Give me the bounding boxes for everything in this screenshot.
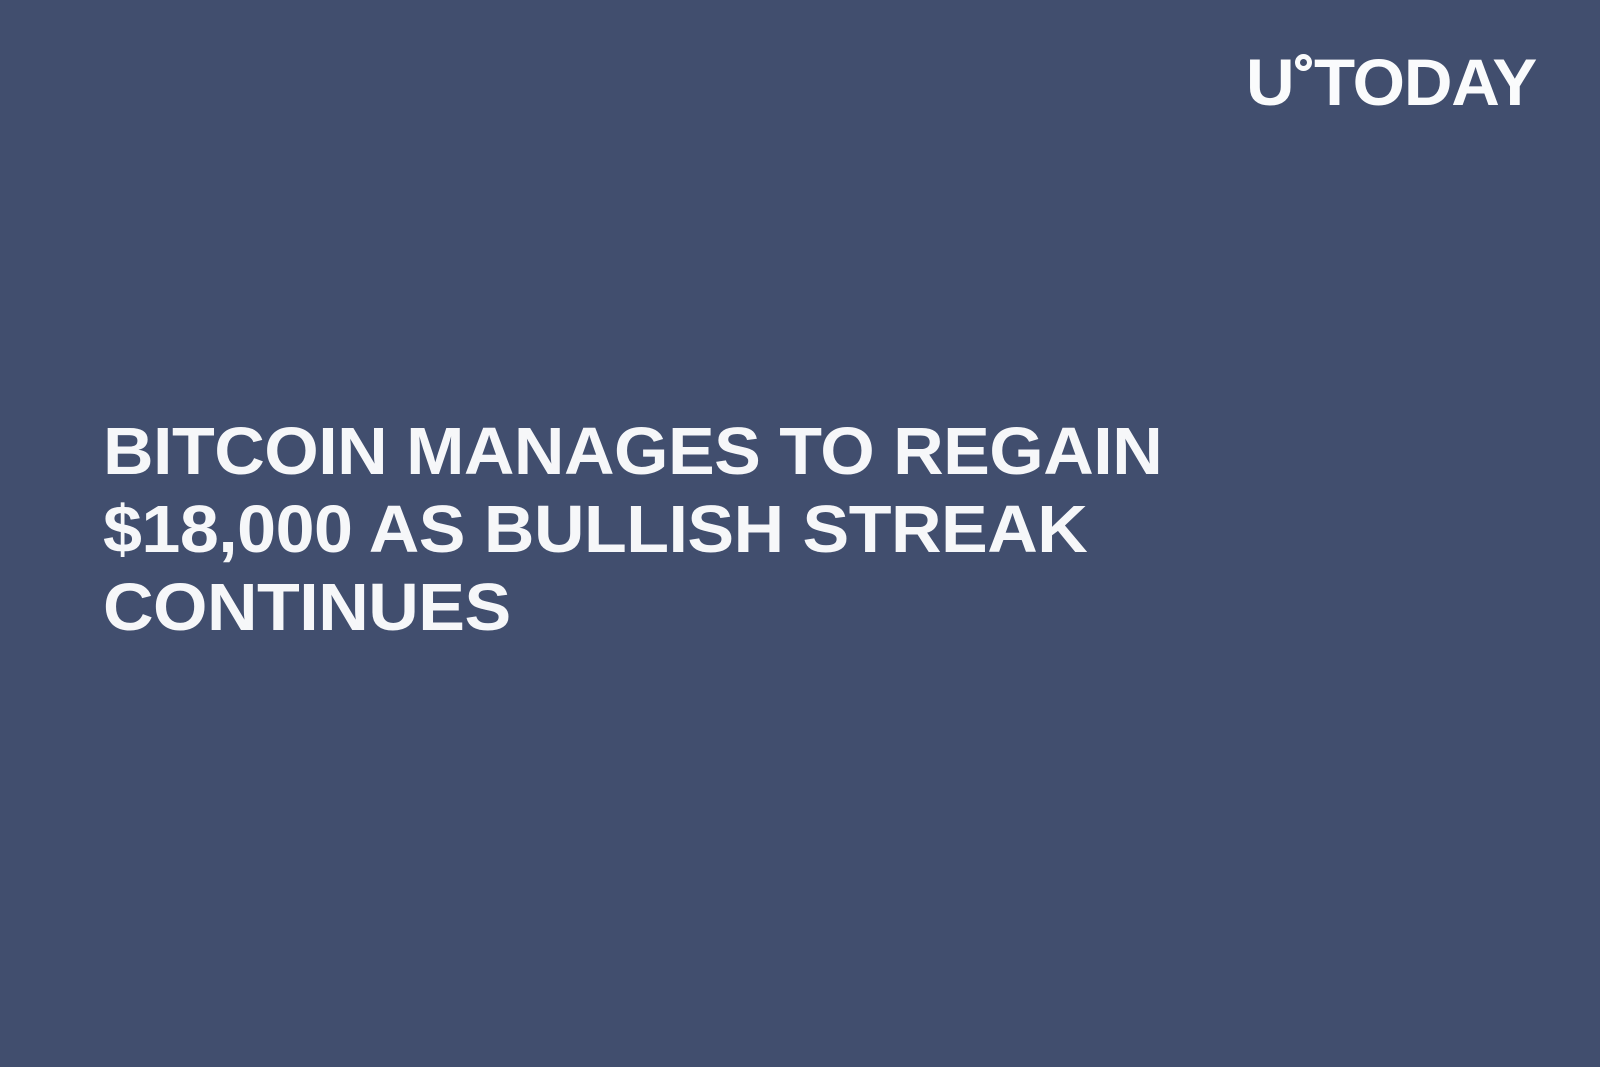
social-share-card: U TODAY BITCOIN MANAGES TO REGAIN $18,00… (0, 0, 1600, 1067)
logo-word-today: TODAY (1314, 49, 1536, 115)
degree-ring-icon (1295, 54, 1312, 71)
utoday-logo[interactable]: U TODAY (1246, 49, 1532, 115)
headline-line-1: BITCOIN MANAGES TO REGAIN (103, 413, 1357, 491)
headline-line-2: $18,000 AS BULLISH STREAK (103, 491, 1357, 569)
headline-line-3: CONTINUES (103, 569, 1357, 647)
page-title: BITCOIN MANAGES TO REGAIN $18,000 AS BUL… (103, 413, 1303, 647)
logo-letter-u: U (1246, 49, 1293, 115)
